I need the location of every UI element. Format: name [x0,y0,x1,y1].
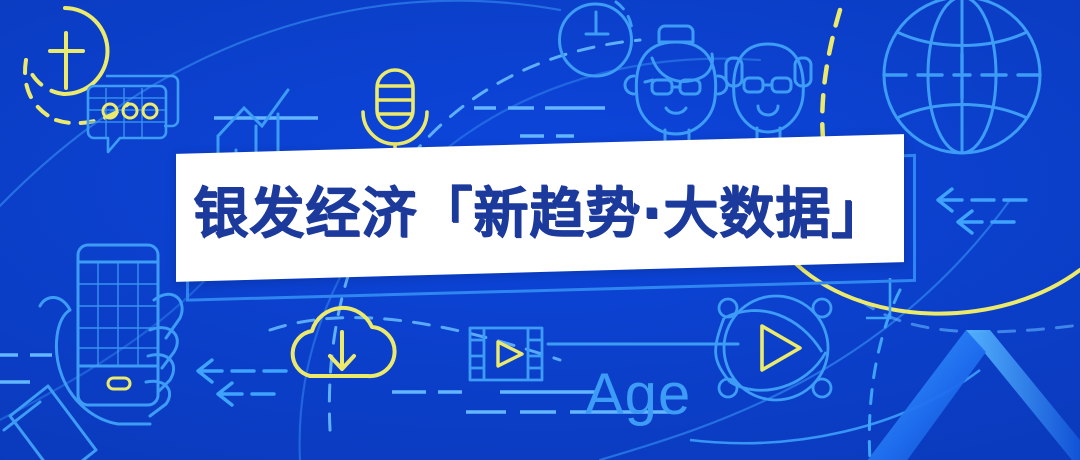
page-title: 银发经济「新趋势·大数据」 [193,168,887,248]
clock-crosshair-icon [559,2,632,76]
hand-holding-phone-icon [4,245,182,460]
chevron-logo-mark [860,330,1080,460]
dashed-arrow-left-pair-left [198,360,286,405]
silver-economy-banner: 银发经济「新趋势·大数据」 Age [0,0,1080,460]
decorative-word-age: Age [585,366,691,424]
microphone-icon [363,70,427,158]
dashed-arrow-left-pair-right [938,189,1026,233]
globe-icon [884,0,1040,153]
chat-bubble-dots-icon [88,76,178,152]
title-plate: 银发经济「新趋势·大数据」 [176,134,904,282]
